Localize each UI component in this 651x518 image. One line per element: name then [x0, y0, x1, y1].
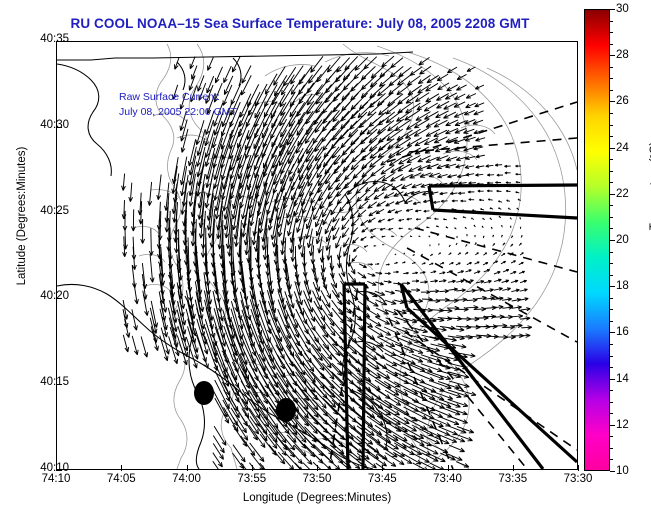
current-vector [466, 270, 472, 272]
current-vector [520, 227, 521, 229]
current-vector [241, 75, 251, 95]
current-vector [429, 263, 433, 265]
current-vector [519, 243, 521, 245]
current-vector [364, 246, 368, 248]
current-vector [456, 85, 466, 90]
current-vector [268, 301, 279, 333]
current-vector [215, 67, 222, 83]
current-vector [475, 243, 477, 245]
colorbar-minor-tick [610, 159, 613, 160]
current-vector [490, 218, 492, 220]
current-vector [291, 74, 305, 94]
current-vector [382, 236, 386, 237]
current-vector [385, 300, 396, 304]
current-vector [475, 262, 480, 264]
colorbar-tick-16: 16 [616, 326, 629, 338]
current-vector [430, 254, 432, 256]
current-vector [412, 262, 415, 263]
current-vector [341, 103, 358, 121]
current-vector [403, 282, 410, 285]
current-vector [503, 270, 509, 272]
current-vector [369, 138, 385, 151]
current-vector [352, 237, 358, 243]
current-vector [510, 272, 516, 274]
current-vector [321, 272, 327, 289]
current-vector [483, 263, 488, 265]
current-vector [429, 236, 430, 237]
current-vector [362, 228, 369, 233]
current-vector [141, 337, 148, 358]
current-vector [344, 238, 350, 248]
current-vector [408, 228, 411, 229]
current-vector [351, 84, 367, 100]
current-vector [160, 309, 168, 337]
current-vector [433, 201, 440, 203]
map-canvas [57, 42, 577, 469]
current-vector [511, 261, 515, 263]
current-vector [447, 67, 457, 73]
y-axis-label: Latitude (Degrees:Minutes) [16, 116, 28, 316]
current-vector [377, 201, 386, 206]
current-vector [369, 211, 377, 216]
current-vector [369, 129, 386, 143]
current-vector [333, 93, 350, 112]
current-vector [456, 165, 466, 168]
colorbar-minor-tick [610, 67, 613, 68]
current-vector [342, 228, 349, 238]
current-vector [307, 74, 321, 93]
colorbar [584, 9, 610, 471]
current-vector [175, 219, 179, 253]
current-vector [511, 236, 512, 238]
colorbar-tick-10: 10 [616, 465, 629, 477]
current-vector [314, 317, 328, 338]
x-tick-6: 73:40 [418, 473, 478, 485]
colorbar-tick-26: 26 [616, 95, 629, 107]
current-vector [394, 262, 397, 263]
current-vector [521, 235, 522, 237]
x-tick-2: 74:00 [157, 473, 217, 485]
current-vector [505, 172, 511, 174]
current-vector [269, 355, 288, 387]
current-vector [314, 273, 320, 292]
current-vector [411, 289, 420, 292]
current-vector [368, 202, 377, 209]
current-vector [413, 202, 421, 205]
current-vector [224, 66, 232, 83]
map-plot-area: Raw Surface Current: July 08, 2005 22:00… [56, 41, 578, 470]
current-vector [449, 288, 458, 291]
colorbar-tick-mark-26 [610, 101, 615, 102]
current-vector [376, 272, 383, 274]
current-vector [332, 139, 348, 158]
current-vector [475, 85, 484, 89]
colorbar-minor-tick [610, 413, 613, 414]
colorbar-tick-mark-18 [610, 286, 615, 287]
y-tick-0: 40:35 [23, 33, 69, 45]
current-vector [367, 416, 391, 433]
current-vector [501, 261, 506, 264]
current-vector [439, 272, 445, 274]
current-vector [342, 220, 350, 230]
current-vector [465, 227, 466, 229]
current-vector [448, 435, 465, 442]
colorbar-minor-tick [610, 182, 613, 183]
current-vector [337, 58, 350, 73]
current-vector [213, 436, 224, 453]
current-vector [393, 271, 398, 273]
current-vector [446, 227, 448, 228]
current-vector [386, 202, 395, 206]
current-vector [487, 182, 493, 184]
current-vector [314, 337, 332, 360]
current-vector [402, 184, 413, 189]
current-vector [493, 235, 494, 237]
x-axis-label: Longitude (Degrees:Minutes) [56, 492, 578, 504]
current-vector [412, 328, 428, 333]
current-vector [406, 209, 413, 211]
current-vector [242, 66, 251, 84]
current-vector [382, 244, 384, 245]
current-vector [455, 94, 466, 99]
colorbar-minor-tick [610, 32, 613, 33]
current-vector [375, 263, 379, 264]
current-vector [466, 173, 475, 176]
current-vector [520, 289, 528, 292]
colorbar-tick-mark-20 [610, 240, 615, 241]
current-vector [374, 193, 384, 200]
current-vector [520, 218, 521, 220]
current-vector [348, 273, 356, 283]
current-vector [457, 435, 473, 441]
colorbar-minor-tick [610, 356, 613, 357]
current-vector [430, 245, 431, 247]
current-vector [426, 129, 440, 136]
colorbar-tick-20: 20 [616, 234, 629, 246]
current-vector [361, 237, 367, 241]
current-vector [506, 190, 510, 191]
colorbar-tick-18: 18 [616, 280, 629, 292]
current-vector [463, 217, 466, 218]
current-vector [486, 165, 494, 168]
colorbar-tick-mark-22 [610, 194, 615, 195]
current-vector [407, 218, 412, 220]
current-vector [416, 219, 421, 221]
current-vector [488, 199, 492, 201]
current-vector [498, 208, 501, 209]
current-vector [466, 94, 476, 99]
current-vector [413, 254, 415, 255]
current-vector [298, 101, 314, 124]
current-vector [351, 129, 368, 146]
current-vector [149, 228, 153, 255]
colorbar-minor-tick [610, 252, 613, 253]
current-vector [125, 319, 130, 338]
current-vector [434, 137, 447, 143]
current-vector [456, 462, 469, 467]
current-vector [328, 173, 341, 190]
colorbar-minor-tick [610, 205, 613, 206]
current-vector [358, 210, 366, 217]
current-vector [446, 157, 457, 161]
current-vector [478, 190, 484, 192]
current-vector [502, 280, 509, 283]
current-vector [336, 236, 341, 248]
current-vector [388, 209, 395, 212]
current-vector [439, 417, 459, 425]
current-vector [286, 346, 305, 375]
current-vector [375, 327, 391, 336]
current-vector [214, 83, 222, 102]
current-vector [511, 289, 519, 292]
current-vector [388, 219, 394, 221]
current-vector [316, 76, 331, 95]
current-vector [233, 445, 245, 462]
current-vector [313, 462, 330, 469]
y-tick-mark-0 [56, 41, 62, 42]
current-vector [314, 103, 331, 125]
x-tick-mark-8 [578, 465, 579, 471]
current-vector [502, 225, 503, 227]
current-vector [455, 228, 457, 230]
x-tick-mark-7 [513, 465, 514, 471]
current-vector [487, 174, 494, 176]
current-vector [510, 226, 511, 228]
current-vector [426, 120, 440, 128]
colorbar-gradient [585, 10, 609, 470]
current-vector [342, 83, 358, 100]
y-tick-2: 40:25 [23, 205, 69, 217]
current-vector [457, 175, 466, 178]
current-vector [412, 272, 418, 274]
current-vector [412, 280, 419, 282]
current-vector [475, 174, 483, 177]
x-tick-0: 74:10 [26, 473, 86, 485]
current-vector [207, 76, 214, 93]
current-vector [311, 56, 323, 72]
x-tick-3: 73:55 [222, 473, 282, 485]
current-vector [157, 175, 161, 200]
current-vector [286, 354, 306, 384]
current-vector [512, 306, 522, 309]
current-vector [499, 216, 501, 218]
current-vector [403, 272, 408, 274]
current-vector [467, 298, 478, 302]
current-vector [343, 156, 358, 172]
current-vector [449, 416, 468, 423]
current-vector [497, 190, 502, 192]
x-tick-mark-5 [382, 465, 383, 471]
colorbar-tick-28: 28 [616, 49, 629, 61]
current-vector [180, 93, 186, 110]
current-vector [447, 175, 457, 178]
current-vector [352, 256, 357, 262]
current-vector [519, 262, 524, 264]
sst-map-figure: RU COOL NOAA–15 Sea Surface Temperature:… [0, 0, 651, 518]
current-vector [358, 272, 366, 278]
current-vector [485, 289, 494, 292]
current-vector [467, 67, 475, 71]
current-vector [376, 308, 389, 314]
station-marker-1 [194, 381, 214, 405]
current-vector [333, 209, 341, 222]
colorbar-tick-24: 24 [616, 142, 629, 154]
current-vector [341, 263, 346, 276]
current-vector [516, 192, 520, 193]
current-vector [181, 120, 188, 142]
current-vector [375, 282, 383, 285]
current-vector [474, 271, 480, 273]
current-vector [430, 280, 437, 283]
current-vector [422, 263, 426, 265]
current-vector [495, 182, 501, 184]
current-vector [376, 317, 390, 324]
current-vector [516, 181, 520, 183]
x-tick-mark-3 [252, 465, 253, 471]
colorbar-minor-tick [610, 21, 613, 22]
current-vector [468, 191, 475, 193]
current-vector [368, 218, 375, 223]
current-vector [296, 390, 319, 417]
y-tick-4: 40:15 [23, 376, 69, 388]
current-vector [439, 244, 440, 246]
current-vector [376, 209, 384, 213]
current-vector [430, 290, 439, 293]
current-vector [476, 138, 486, 141]
x-tick-mark-2 [187, 465, 188, 471]
current-vector [353, 247, 359, 252]
current-vector [495, 164, 502, 166]
current-vector [430, 426, 450, 435]
colorbar-tick-mark-28 [610, 55, 615, 56]
current-vector [190, 57, 195, 69]
current-vector [467, 263, 472, 265]
current-vector [294, 445, 312, 464]
colorbar-tick-mark-14 [610, 379, 615, 380]
current-vector [458, 253, 461, 255]
colorbar-minor-tick [610, 448, 613, 449]
current-vector [403, 454, 421, 464]
current-vector [519, 271, 525, 273]
current-vector [170, 327, 179, 356]
current-vector [494, 288, 503, 291]
current-vector [474, 111, 484, 115]
current-vector [328, 183, 340, 199]
current-vector [458, 192, 465, 194]
current-vector [491, 227, 492, 229]
current-vector [123, 335, 128, 352]
current-vector [437, 74, 448, 81]
colorbar-minor-tick [610, 263, 613, 264]
current-vector [367, 327, 383, 337]
current-vector [260, 363, 279, 396]
current-vector [386, 264, 390, 265]
colorbar-tick-22: 22 [616, 188, 629, 200]
current-vector [325, 75, 340, 93]
current-vector [521, 308, 530, 311]
current-vector [494, 279, 501, 282]
current-vector [424, 210, 430, 212]
current-vector [439, 290, 448, 293]
current-vector [508, 208, 510, 210]
current-vector [150, 255, 154, 283]
y-tick-mark-2 [56, 213, 62, 214]
current-vector [444, 103, 456, 109]
current-vector [320, 246, 324, 263]
current-vector [378, 219, 385, 222]
current-vector [466, 103, 476, 108]
current-vector [132, 309, 138, 330]
current-vector [384, 281, 392, 284]
current-vector [440, 192, 448, 195]
current-vector [471, 218, 474, 219]
x-tick-8: 73:30 [548, 473, 608, 485]
current-vector [454, 112, 466, 117]
current-vector [415, 210, 421, 212]
current-vector [474, 225, 475, 227]
current-vector [377, 454, 396, 467]
current-vector [434, 218, 438, 219]
current-vector [276, 362, 296, 393]
current-vector [412, 184, 422, 188]
current-vector [452, 200, 458, 202]
current-vector [465, 156, 475, 159]
current-vector [371, 236, 376, 238]
current-vector [395, 254, 396, 255]
current-vector [520, 298, 529, 301]
current-vector [399, 156, 413, 164]
current-vector [503, 243, 505, 245]
current-vector [475, 103, 484, 107]
current-vector [464, 148, 474, 152]
current-vector [512, 314, 523, 318]
colorbar-minor-tick [610, 309, 613, 310]
current-vector [233, 453, 244, 469]
current-vector [148, 182, 152, 206]
current-vector [410, 236, 412, 237]
current-vector [173, 85, 178, 100]
colorbar-tick-mark-30 [610, 9, 615, 10]
colorbar-tick-mark-12 [610, 425, 615, 426]
colorbar-minor-tick [610, 78, 613, 79]
x-tick-mark-6 [448, 465, 449, 471]
colorbar-tick-mark-10 [610, 471, 615, 472]
current-vector [487, 190, 493, 192]
colorbar-minor-tick [610, 402, 613, 403]
colorbar-minor-tick [610, 217, 613, 218]
current-vector [502, 288, 510, 291]
current-vector [395, 201, 403, 205]
current-vector [457, 236, 458, 238]
current-vector [425, 111, 439, 119]
current-vector [131, 209, 135, 231]
current-vector [334, 156, 349, 174]
colorbar-tick-mark-24 [610, 148, 615, 149]
colorbar-minor-tick [610, 125, 613, 126]
colorbar-ticks: 3028262422201816141210 [610, 9, 650, 471]
current-vector [479, 199, 484, 201]
colorbar-minor-tick [610, 171, 613, 172]
current-vector [367, 281, 376, 285]
current-vector [469, 199, 475, 201]
current-vector [404, 253, 405, 254]
x-tick-5: 73:45 [352, 473, 412, 485]
x-tick-mark-4 [317, 465, 318, 471]
current-vector [498, 201, 502, 202]
current-vector [511, 280, 518, 282]
current-vector [434, 120, 447, 127]
current-vector [502, 235, 503, 237]
